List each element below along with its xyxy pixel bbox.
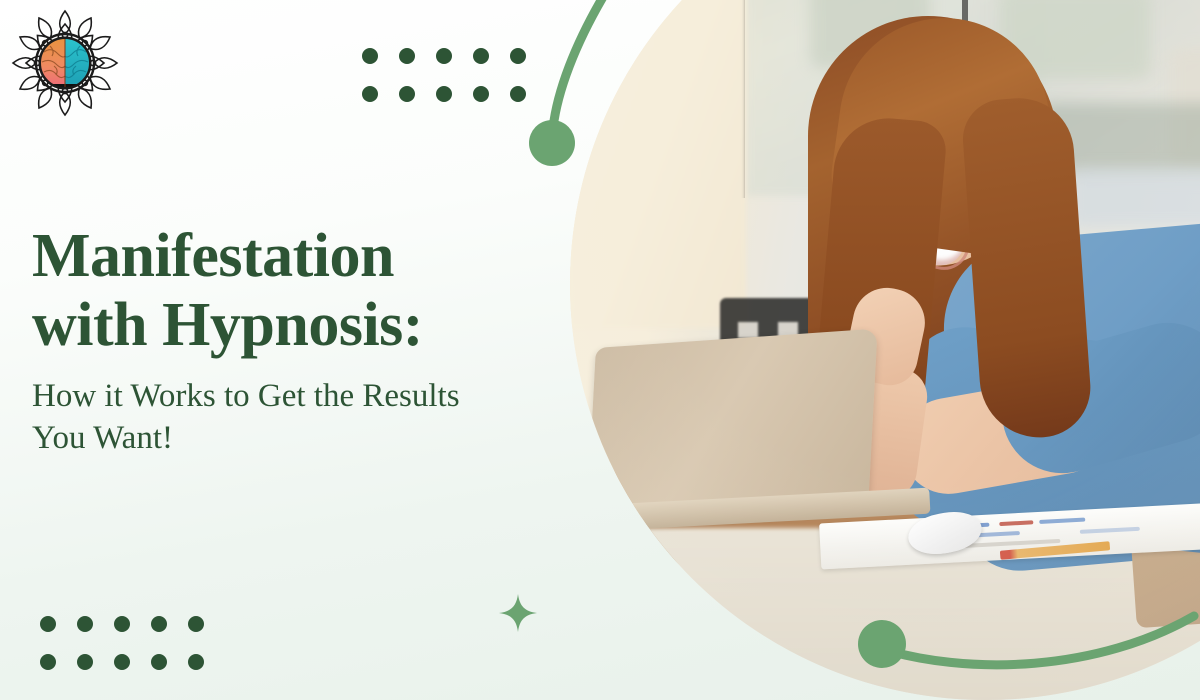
headline-line-1: Manifestation: [32, 222, 394, 290]
dot-grid-bottom-left: [40, 616, 204, 670]
arc-top-dot-terminal: [529, 120, 575, 166]
dot: [362, 48, 378, 64]
dot: [399, 48, 415, 64]
dot: [473, 48, 489, 64]
page-title: Manifestation with Hypnosis:: [32, 222, 577, 361]
dot: [510, 48, 526, 64]
dot: [188, 616, 204, 632]
dot: [362, 86, 378, 102]
banner-copy: Manifestation with Hypnosis: How it Work…: [32, 222, 577, 459]
subheadline-line-1: How it Works to Get the Results: [32, 378, 460, 414]
dot: [40, 654, 56, 670]
dot-grid-top-right: [362, 48, 526, 102]
four-point-sparkle-icon: [497, 592, 539, 634]
mandala-brain-logo[interactable]: [10, 8, 120, 118]
dot: [40, 616, 56, 632]
woman-working-on-laptop-photo: [570, 0, 1200, 700]
dot: [473, 86, 489, 102]
dot: [188, 654, 204, 670]
dot: [151, 616, 167, 632]
dot: [114, 654, 130, 670]
photo-content: [570, 0, 1200, 700]
dot: [510, 86, 526, 102]
page-subtitle: How it Works to Get the Results You Want…: [32, 375, 577, 459]
headline-line-2: with Hypnosis:: [32, 291, 423, 359]
blog-banner: Manifestation with Hypnosis: How it Work…: [0, 0, 1200, 700]
dot: [399, 86, 415, 102]
photo-soft-light: [570, 0, 1200, 700]
dot: [114, 616, 130, 632]
subheadline-line-2: You Want!: [32, 420, 173, 456]
dot: [77, 654, 93, 670]
dot: [151, 654, 167, 670]
dot: [436, 86, 452, 102]
dot: [436, 48, 452, 64]
dot: [77, 616, 93, 632]
arc-bottom-dot-terminal: [858, 620, 906, 668]
